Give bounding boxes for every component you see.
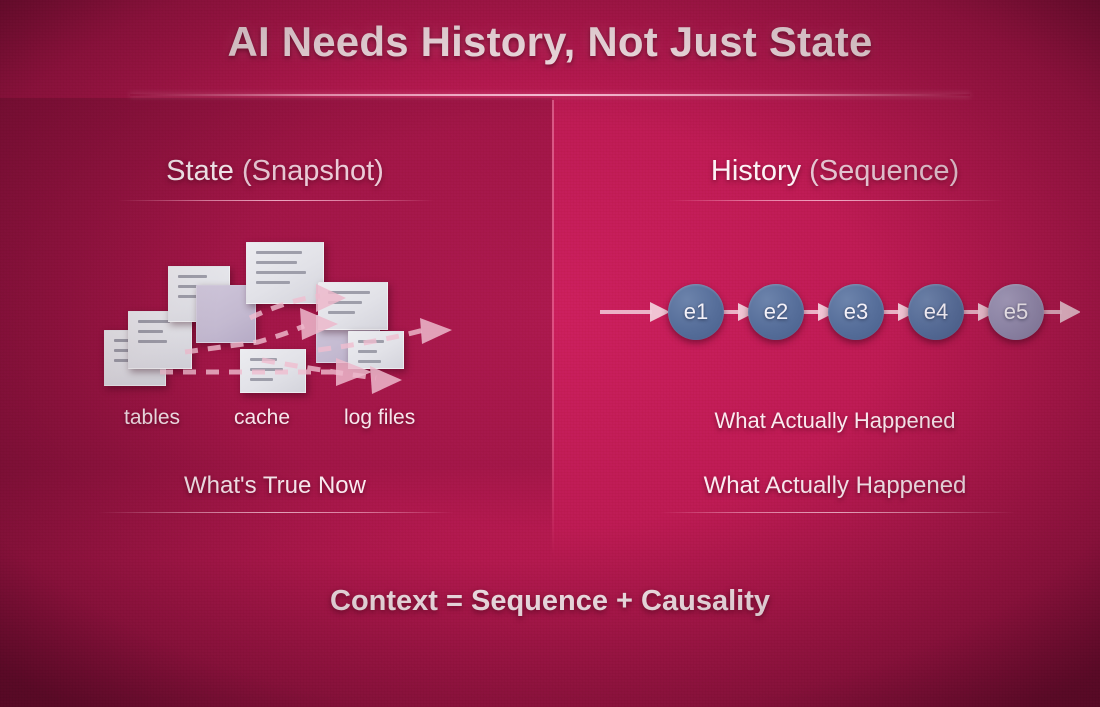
document-card [348,331,404,369]
document-text-line [358,340,384,343]
event-node-e2: e2 [748,284,804,340]
event-node-label: e2 [764,299,788,325]
right-panel-caption-rule [660,512,1016,513]
document-text-line [256,271,306,274]
right-panel-heading-rule [668,200,1004,201]
event-node-e5: e5 [988,284,1044,340]
document-text-line [328,291,370,294]
panel-divider [552,100,554,555]
doc-label-tables: tables [124,406,180,430]
event-node-label: e1 [684,299,708,325]
document-card [246,242,324,304]
document-text-line [256,261,297,264]
document-text-line [138,320,170,323]
document-text-line [358,360,381,363]
document-flow-arrows [0,0,552,470]
event-sequence-chain: e1e2e3e4e5 [600,278,1080,354]
document-text-line [328,301,362,304]
event-node-label: e3 [844,299,868,325]
right-panel-heading-main: History [711,155,801,187]
document-text-line [178,275,207,278]
document-card [318,282,388,330]
event-node-e1: e1 [668,284,724,340]
document-text-line [250,368,283,371]
event-node-label: e4 [924,299,948,325]
right-panel-subcaption: What Actually Happened [600,408,1070,434]
doc-label-cache: cache [234,406,290,430]
doc-label-log-files: log files [344,406,415,430]
document-card [240,349,306,393]
right-panel-caption: What Actually Happened [600,472,1070,500]
event-node-e3: e3 [828,284,884,340]
left-panel-caption: What's True Now [40,472,510,500]
right-panel-heading-sub: (Sequence) [809,155,959,187]
bottom-statement: Context = Sequence + Causality [0,585,1100,618]
right-panel-heading: History (Sequence) [600,155,1070,188]
event-node-label: e5 [1004,299,1028,325]
document-cluster [0,0,552,470]
document-text-line [250,358,277,361]
document-text-line [138,330,163,333]
event-node-e4: e4 [908,284,964,340]
document-text-line [256,281,290,284]
document-text-line [250,378,273,381]
slide-canvas: AI Needs History, Not Just State State (… [0,0,1100,707]
left-panel-caption-rule [98,512,454,513]
document-text-line [138,340,167,343]
document-text-line [256,251,302,254]
document-text-line [358,350,377,353]
document-text-line [328,311,355,314]
